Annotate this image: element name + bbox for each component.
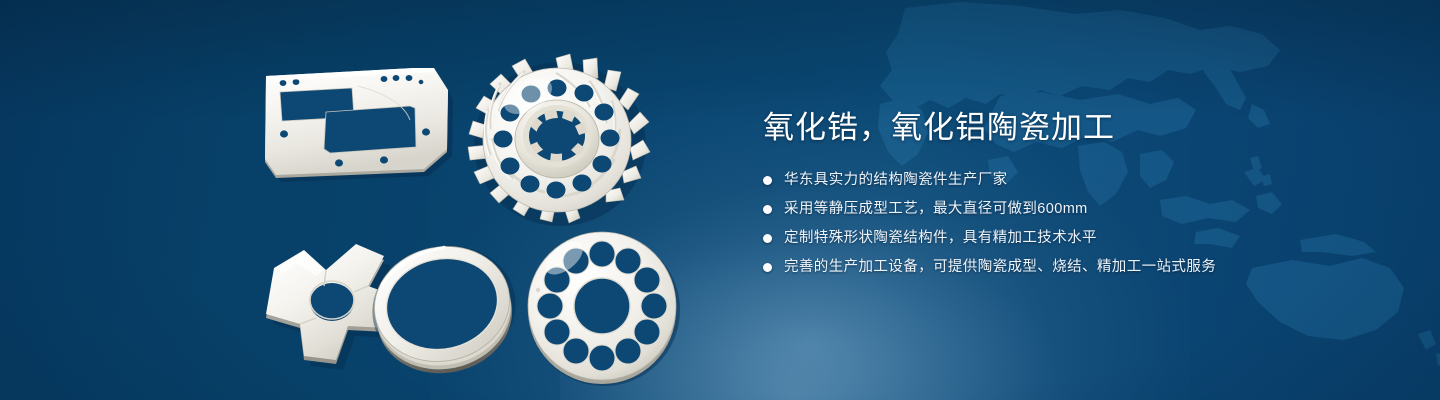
promo-banner: 氧化锆，氧化铝陶瓷加工 华东具实力的结构陶瓷件生产厂家 采用等静压成型工艺，最大… bbox=[0, 0, 1440, 400]
ceramic-perforated-disc bbox=[512, 216, 692, 396]
ceramic-impeller-disc bbox=[452, 44, 662, 234]
feature-item: 定制特殊形状陶瓷结构件，具有精加工技术水平 bbox=[763, 228, 1383, 248]
feature-text: 定制特殊形状陶瓷结构件，具有精加工技术水平 bbox=[784, 228, 1097, 248]
feature-text: 华东具实力的结构陶瓷件生产厂家 bbox=[784, 170, 1008, 190]
feature-item: 采用等静压成型工艺，最大直径可做到600mm bbox=[763, 199, 1383, 219]
feature-text: 完善的生产加工设备，可提供陶瓷成型、烧结、精加工一站式服务 bbox=[784, 257, 1216, 277]
feature-item: 华东具实力的结构陶瓷件生产厂家 bbox=[763, 170, 1383, 190]
bullet-dot-icon bbox=[763, 234, 772, 243]
bullet-dot-icon bbox=[763, 263, 772, 272]
banner-headline: 氧化锆，氧化铝陶瓷加工 bbox=[763, 108, 1383, 148]
bullet-dot-icon bbox=[763, 205, 772, 214]
feature-text: 采用等静压成型工艺，最大直径可做到600mm bbox=[784, 199, 1088, 219]
banner-copy: 氧化锆，氧化铝陶瓷加工 华东具实力的结构陶瓷件生产厂家 采用等静压成型工艺，最大… bbox=[763, 108, 1383, 277]
feature-list: 华东具实力的结构陶瓷件生产厂家 采用等静压成型工艺，最大直径可做到600mm 定… bbox=[763, 170, 1383, 277]
product-image-group bbox=[230, 40, 690, 380]
ceramic-ring bbox=[352, 228, 532, 378]
feature-item: 完善的生产加工设备，可提供陶瓷成型、烧结、精加工一站式服务 bbox=[763, 257, 1383, 277]
bullet-dot-icon bbox=[763, 176, 772, 185]
